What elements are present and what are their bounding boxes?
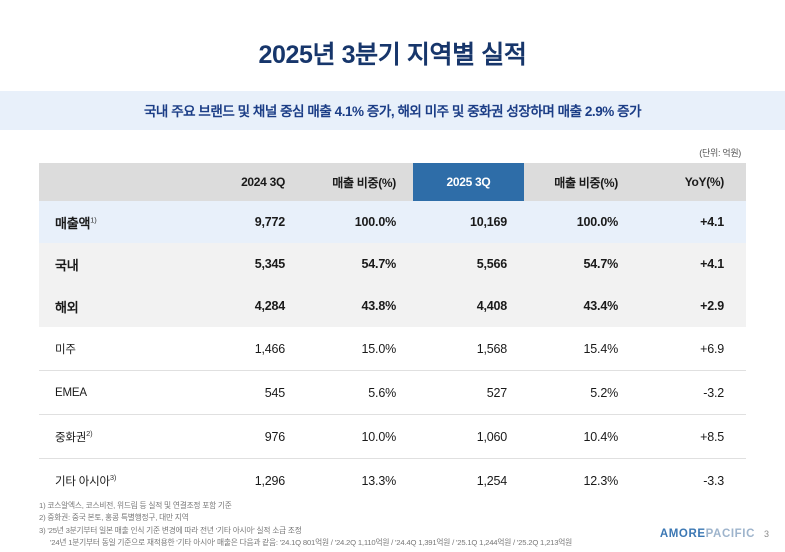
cell-yoy: -3.2 [635,371,746,415]
cell-share-2024: 5.6% [302,371,413,415]
subtitle-text: 국내 주요 브랜드 및 채널 중심 매출 4.1% 증가, 해외 미주 및 중화… [144,100,641,120]
column-header-label [39,163,191,201]
row-label: EMEA [39,371,191,415]
page-number: 3 [764,529,769,539]
cell-share-2025: 15.4% [524,327,635,371]
cell-2025: 1,254 [413,459,524,503]
cell-share-2025: 100.0% [524,201,635,243]
table-row: 기타 아시아3)1,29613.3%1,25412.3%-3.3 [39,459,746,503]
cell-share-2024: 13.3% [302,459,413,503]
cell-yoy: -3.3 [635,459,746,503]
row-label: 기타 아시아3) [39,459,191,503]
subtitle-banner: 국내 주요 브랜드 및 채널 중심 매출 4.1% 증가, 해외 미주 및 중화… [0,91,785,130]
cell-share-2025: 54.7% [524,243,635,285]
cell-2024: 1,466 [191,327,302,371]
row-label: 중화권2) [39,415,191,459]
logo-text: AMOREPACIFIC [660,528,755,540]
row-label: 미주 [39,327,191,371]
brand-logo: AMOREPACIFIC 3 [660,528,769,540]
cell-2024: 976 [191,415,302,459]
table-header: 2024 3Q 매출 비중(%) 2025 3Q 매출 비중(%) YoY(%) [39,163,746,201]
cell-yoy: +8.5 [635,415,746,459]
cell-share-2024: 15.0% [302,327,413,371]
cell-2024: 1,296 [191,459,302,503]
row-label: 해외 [39,285,191,327]
column-header-2025-3q: 2025 3Q [413,163,524,201]
cell-2025: 10,169 [413,201,524,243]
unit-note: (단위: 억원) [699,146,741,159]
page-title: 2025년 3분기 지역별 실적 [0,0,785,70]
logo-amore: AMORE [660,528,706,540]
cell-share-2024: 10.0% [302,415,413,459]
footnote-line-4: '24년 1분기부터 동일 기준으로 재적용한 '기타 아시아' 매출은 다음과… [39,537,572,549]
cell-2025: 527 [413,371,524,415]
table-header-row: 2024 3Q 매출 비중(%) 2025 3Q 매출 비중(%) YoY(%) [39,163,746,201]
cell-2025: 1,568 [413,327,524,371]
table-row: 해외4,28443.8%4,40843.4%+2.9 [39,285,746,327]
footnote-marker: 3) [110,473,116,482]
row-label: 매출액1) [39,201,191,243]
cell-2025: 1,060 [413,415,524,459]
footnote-marker: 2) [86,429,92,438]
row-label: 국내 [39,243,191,285]
cell-share-2024: 54.7% [302,243,413,285]
cell-yoy: +6.9 [635,327,746,371]
cell-2024: 4,284 [191,285,302,327]
cell-2025: 4,408 [413,285,524,327]
column-header-yoy: YoY(%) [635,163,746,201]
performance-table-container: 2024 3Q 매출 비중(%) 2025 3Q 매출 비중(%) YoY(%)… [39,163,746,502]
cell-share-2025: 43.4% [524,285,635,327]
footnote-line-3: 3) '25년 3분기부터 일본 매출 인식 기준 변경에 따라 전년 '기타 … [39,525,572,537]
footnote-line-2: 2) 중화권: 중국 본토, 홍콩 특별행정구, 대만 지역 [39,512,572,524]
column-header-share-2024: 매출 비중(%) [302,163,413,201]
table-row: 중화권2)97610.0%1,06010.4%+8.5 [39,415,746,459]
cell-2024: 9,772 [191,201,302,243]
cell-yoy: +4.1 [635,243,746,285]
column-header-2024-3q: 2024 3Q [191,163,302,201]
table-row: 매출액1)9,772100.0%10,169100.0%+4.1 [39,201,746,243]
column-header-share-2025: 매출 비중(%) [524,163,635,201]
table-body: 매출액1)9,772100.0%10,169100.0%+4.1국내5,3455… [39,201,746,502]
cell-yoy: +4.1 [635,201,746,243]
table-row: 미주1,46615.0%1,56815.4%+6.9 [39,327,746,371]
cell-share-2024: 43.8% [302,285,413,327]
footnote-line-1: 1) 코스알엑스, 코스비전, 위드림 등 실적 및 연결조정 포함 기준 [39,500,572,512]
cell-share-2024: 100.0% [302,201,413,243]
cell-share-2025: 12.3% [524,459,635,503]
cell-2025: 5,566 [413,243,524,285]
performance-table: 2024 3Q 매출 비중(%) 2025 3Q 매출 비중(%) YoY(%)… [39,163,746,502]
cell-2024: 545 [191,371,302,415]
table-row: EMEA5455.6%5275.2%-3.2 [39,371,746,415]
footnote-marker: 1) [90,215,96,224]
cell-2024: 5,345 [191,243,302,285]
footnotes: 1) 코스알엑스, 코스비전, 위드림 등 실적 및 연결조정 포함 기준 2)… [39,500,572,550]
cell-yoy: +2.9 [635,285,746,327]
logo-pacific: PACIFIC [706,528,755,540]
cell-share-2025: 5.2% [524,371,635,415]
cell-share-2025: 10.4% [524,415,635,459]
table-row: 국내5,34554.7%5,56654.7%+4.1 [39,243,746,285]
